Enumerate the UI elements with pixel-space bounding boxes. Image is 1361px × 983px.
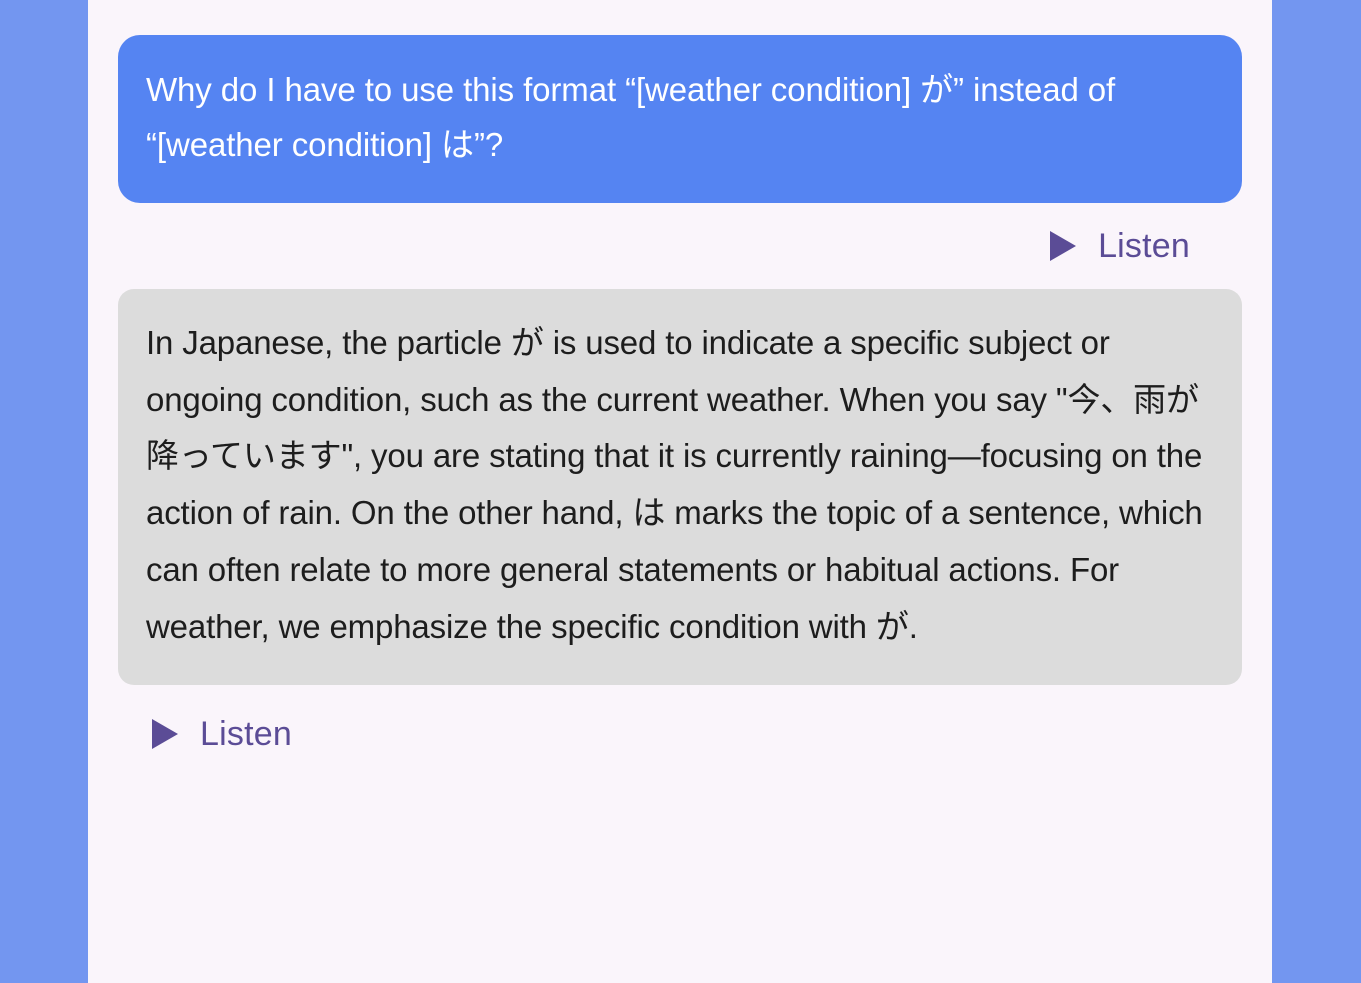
play-triangle-icon [152,719,178,749]
assistant-message-row: In Japanese, the particle が is used to i… [118,289,1242,686]
assistant-listen-row: Listen [118,685,1242,777]
listen-button-user-label: Listen [1098,229,1190,263]
listen-button-user[interactable]: Listen [1044,225,1196,267]
listen-button-assistant-label: Listen [200,717,292,751]
listen-button-assistant[interactable]: Listen [146,713,298,755]
user-listen-row: Listen [118,203,1242,289]
message-list: Why do I have to use this format “[weath… [118,0,1242,777]
app-frame: Why do I have to use this format “[weath… [0,0,1361,983]
play-triangle-icon [1050,231,1076,261]
left-gutter [0,0,88,983]
user-message-bubble: Why do I have to use this format “[weath… [118,35,1242,203]
right-gutter [1272,0,1361,983]
conversation-column[interactable]: Why do I have to use this format “[weath… [88,0,1272,983]
assistant-message-bubble: In Japanese, the particle が is used to i… [118,289,1242,686]
user-message-row: Why do I have to use this format “[weath… [118,0,1242,203]
